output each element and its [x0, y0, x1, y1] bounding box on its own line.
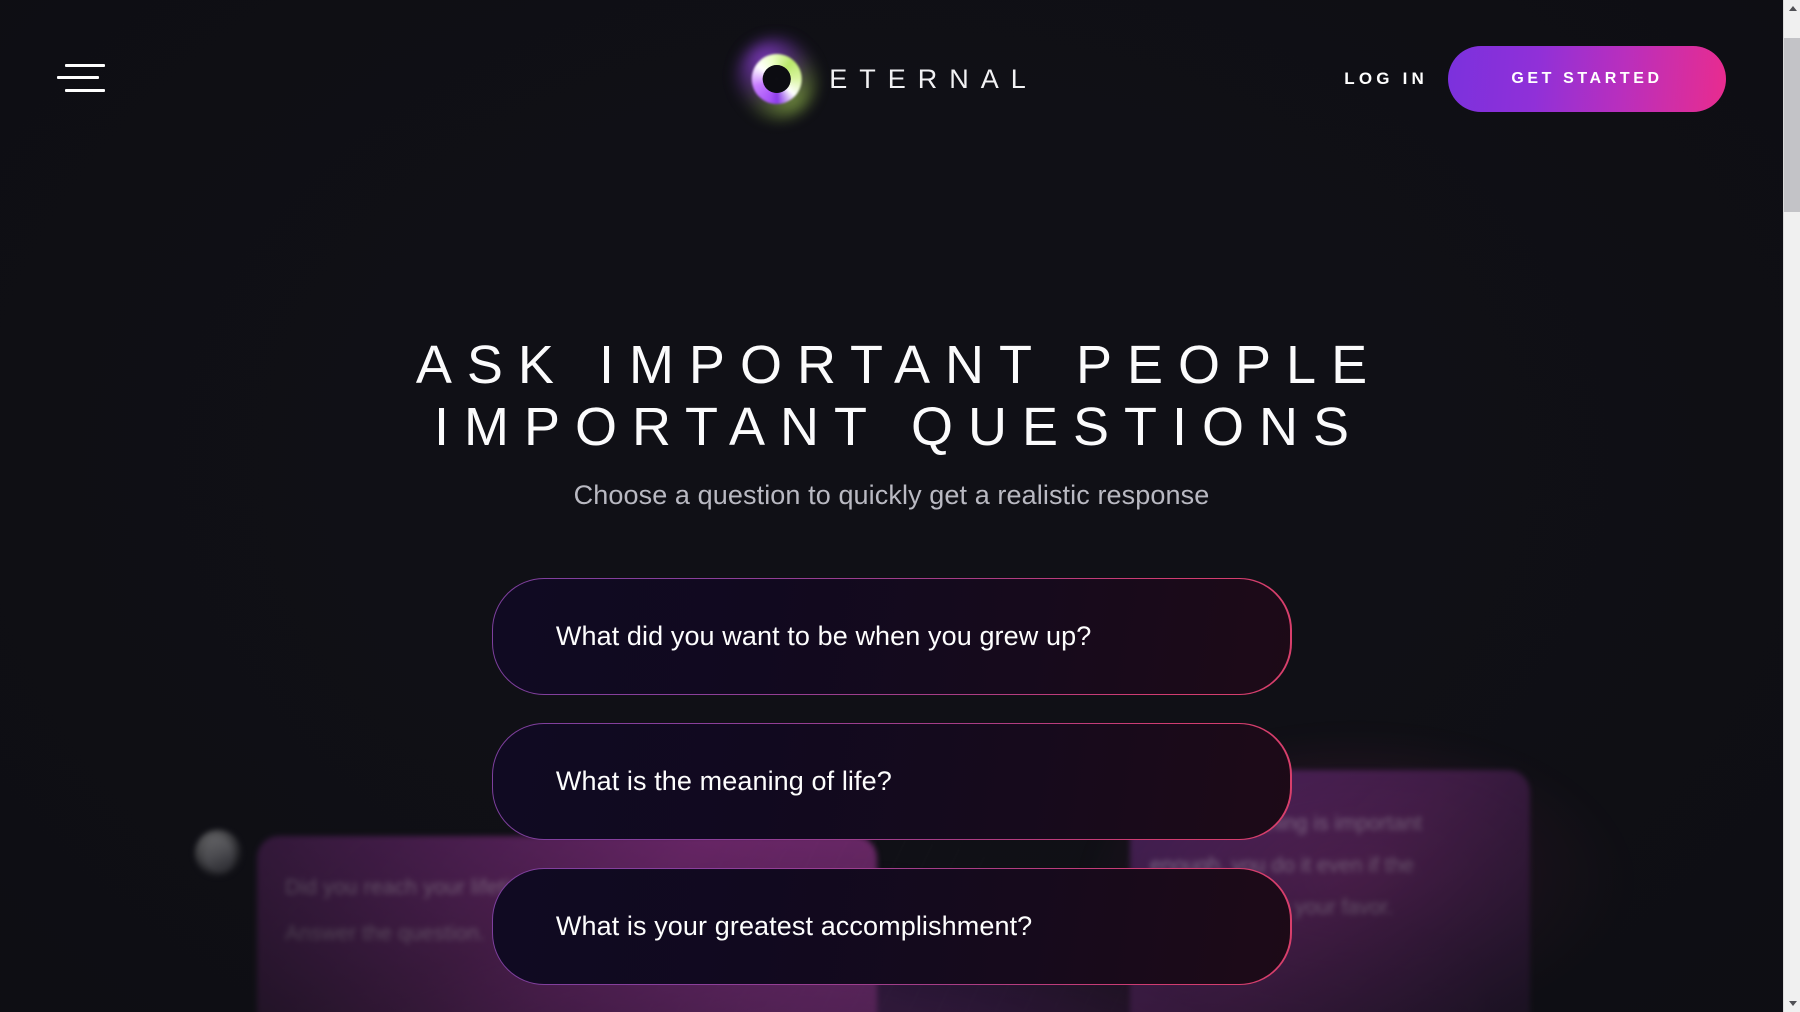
site-header: ETERNAL LOG IN GET STARTED	[0, 0, 1783, 158]
logo-ring-hole	[762, 65, 790, 93]
question-card-list: What did you want to be when you grew up…	[492, 578, 1292, 985]
login-button[interactable]: LOG IN	[1344, 69, 1428, 89]
hamburger-line-top	[65, 64, 105, 67]
scroll-down-arrow-glyph	[1789, 1001, 1797, 1006]
hamburger-menu-icon[interactable]	[57, 62, 105, 96]
scroll-up-arrow-glyph	[1789, 6, 1797, 11]
scrollbar-track[interactable]	[1784, 17, 1800, 995]
question-card[interactable]: What did you want to be when you grew up…	[492, 578, 1292, 695]
question-card-face: What is your greatest accomplishment?	[493, 869, 1290, 983]
hamburger-line-middle	[57, 76, 99, 79]
question-card-face: What is the meaning of life?	[493, 724, 1290, 838]
scroll-up-arrow-icon[interactable]	[1784, 0, 1800, 17]
hamburger-line-bottom	[65, 89, 105, 92]
page-title: ASK IMPORTANT PEOPLE IMPORTANT QUESTIONS	[0, 335, 1783, 458]
headline-line-1: ASK IMPORTANT PEOPLE	[416, 335, 1382, 395]
get-started-button[interactable]: GET STARTED	[1448, 46, 1726, 112]
scroll-down-arrow-icon[interactable]	[1784, 995, 1800, 1012]
headline-line-2: IMPORTANT QUESTIONS	[0, 397, 1783, 459]
brand-logo[interactable]: ETERNAL	[745, 48, 1038, 110]
brand-name: ETERNAL	[829, 66, 1038, 93]
page-root: Did you reach your lifetime goals? Answe…	[0, 0, 1783, 1012]
question-card-face: What did you want to be when you grew up…	[493, 579, 1290, 693]
question-card[interactable]: What is the meaning of life?	[492, 723, 1292, 840]
background-chat-left-line-2: Answer the question.	[285, 922, 485, 946]
question-card[interactable]: What is your greatest accomplishment?	[492, 868, 1292, 985]
browser-viewport: Did you reach your lifetime goals? Answe…	[0, 0, 1800, 1012]
question-card-label: What is your greatest accomplishment?	[493, 911, 1032, 942]
philosopher-bust-avatar	[195, 830, 241, 876]
scrollbar-thumb[interactable]	[1784, 38, 1800, 212]
hero-subtitle: Choose a question to quickly get a reali…	[0, 480, 1783, 511]
vertical-scrollbar[interactable]	[1783, 0, 1800, 1012]
question-card-label: What did you want to be when you grew up…	[493, 621, 1091, 652]
glowing-ring-logo-icon	[745, 48, 807, 110]
question-card-label: What is the meaning of life?	[493, 766, 892, 797]
